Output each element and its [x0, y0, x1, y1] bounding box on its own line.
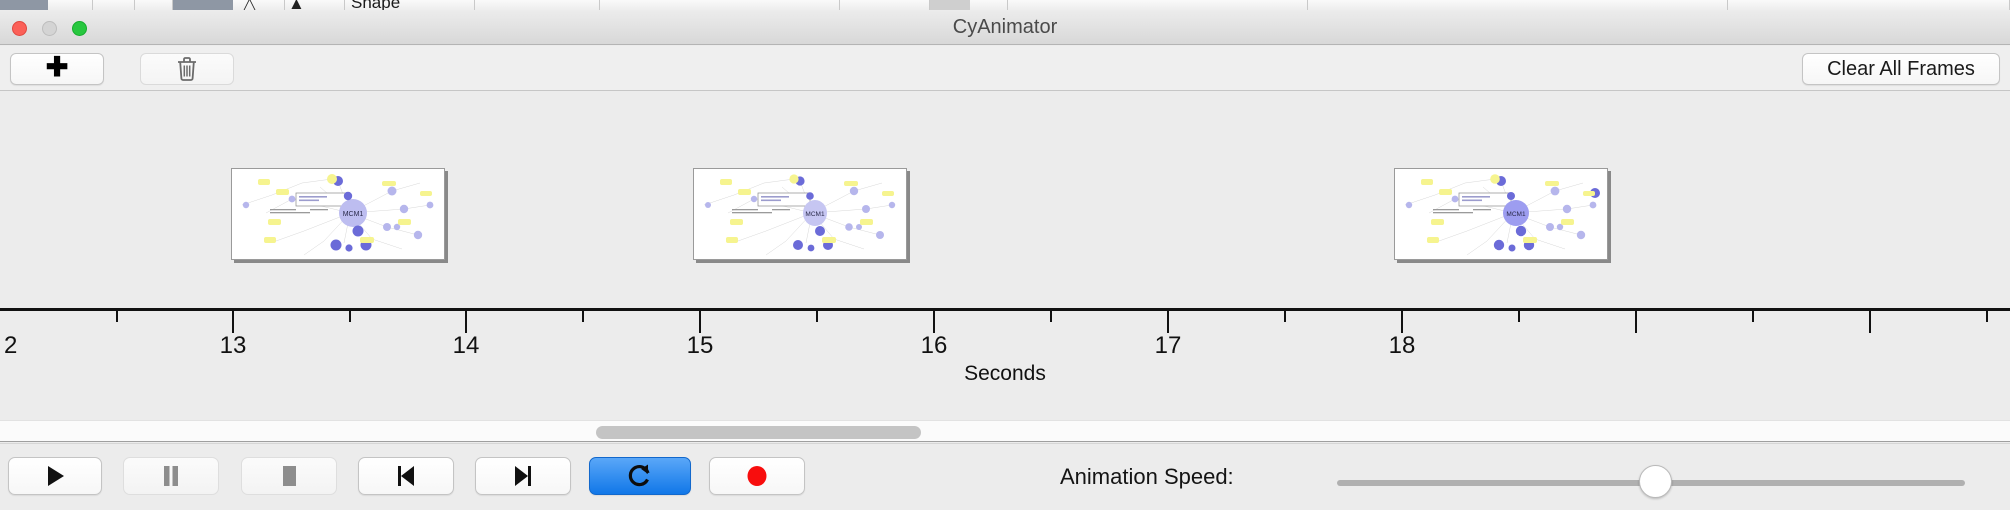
frame-toolbar: ✚ Clear All Frames [0, 46, 2010, 91]
plus-icon: ✚ [46, 54, 69, 81]
ruler-axis-line [0, 308, 2010, 311]
playback-control-bar: Animation Speed: [0, 443, 2010, 510]
ruler-tick-minor [349, 311, 351, 322]
delete-frame-button[interactable] [140, 53, 234, 85]
window-title: CyAnimator [0, 10, 2010, 45]
ruler-tick-major [465, 311, 467, 333]
network-thumbnail-graph: MCM1 [1395, 169, 1607, 259]
record-icon [744, 463, 770, 489]
ruler-axis-title: Seconds [0, 362, 2010, 386]
background-glyph-left: △ [243, 0, 256, 10]
ruler-tick-major [699, 311, 701, 333]
stop-icon [278, 463, 300, 489]
frame-thumbnail-2[interactable]: MCM1 [693, 168, 907, 260]
svg-text:MCM1: MCM1 [1506, 211, 1526, 218]
background-glyph-mid: ▲ [288, 0, 305, 10]
record-button[interactable] [709, 457, 805, 495]
ruler-tick-minor [1284, 311, 1286, 322]
animation-speed-label: Animation Speed: [1060, 464, 1234, 490]
network-thumbnail-graph: MCM1 [232, 169, 444, 259]
skip-back-icon [394, 463, 418, 489]
loop-button[interactable] [589, 457, 691, 495]
ruler-tick-minor [116, 311, 118, 322]
play-icon [43, 463, 67, 489]
background-app-label: Shape [351, 0, 400, 10]
ruler-label: 18 [1389, 332, 1416, 360]
svg-text:MCM1: MCM1 [343, 211, 364, 218]
ruler-tick-minor [1986, 311, 1988, 322]
ruler-tick-minor [1518, 311, 1520, 322]
ruler-tick-major [933, 311, 935, 333]
ruler-label: 13 [220, 332, 247, 360]
title-bar: CyAnimator [0, 10, 2010, 45]
trash-icon [176, 56, 198, 82]
frame-strip[interactable]: MCM1 [0, 92, 2010, 300]
ruler-label: 2 [4, 332, 17, 360]
network-thumbnail-graph: MCM1 [694, 169, 906, 259]
play-button[interactable] [8, 457, 102, 495]
ruler-tick-minor [582, 311, 584, 322]
clear-all-frames-button[interactable]: Clear All Frames [1802, 53, 2000, 85]
ruler-tick-major [1167, 311, 1169, 333]
frame-thumbnail-3[interactable]: MCM1 [1394, 168, 1608, 260]
background-app-strip: △ ▲ Shape [0, 0, 2010, 10]
skip-forward-icon [511, 463, 535, 489]
ruler-label: 17 [1155, 332, 1182, 360]
ruler-tick-major [1869, 311, 1871, 333]
ruler-label: 15 [687, 332, 714, 360]
ruler-label: 16 [921, 332, 948, 360]
pause-button[interactable] [123, 457, 219, 495]
ruler-tick-major [1635, 311, 1637, 333]
skip-to-end-button[interactable] [475, 457, 571, 495]
timeline-scrollbar[interactable] [0, 420, 2010, 442]
timeline-ruler[interactable]: 2 13 14 15 16 17 18 Seconds [0, 300, 2010, 418]
ruler-tick-minor [1050, 311, 1052, 322]
add-frame-button[interactable]: ✚ [10, 53, 104, 85]
ruler-tick-minor [816, 311, 818, 322]
skip-to-start-button[interactable] [358, 457, 454, 495]
ruler-tick-major [1401, 311, 1403, 333]
frame-thumbnail-1[interactable]: MCM1 [231, 168, 445, 260]
stop-button[interactable] [241, 457, 337, 495]
cyanimator-window: △ ▲ Shape CyAnimator ✚ Clear All Frames [0, 0, 2010, 510]
animation-speed-slider-thumb[interactable] [1639, 465, 1672, 498]
ruler-tick-minor [1752, 311, 1754, 322]
timeline-scrollbar-thumb[interactable] [596, 426, 921, 439]
loop-icon [627, 462, 653, 490]
ruler-tick-major [232, 311, 234, 333]
ruler-label: 14 [453, 332, 480, 360]
pause-icon [160, 463, 182, 489]
svg-text:MCM1: MCM1 [805, 211, 825, 218]
